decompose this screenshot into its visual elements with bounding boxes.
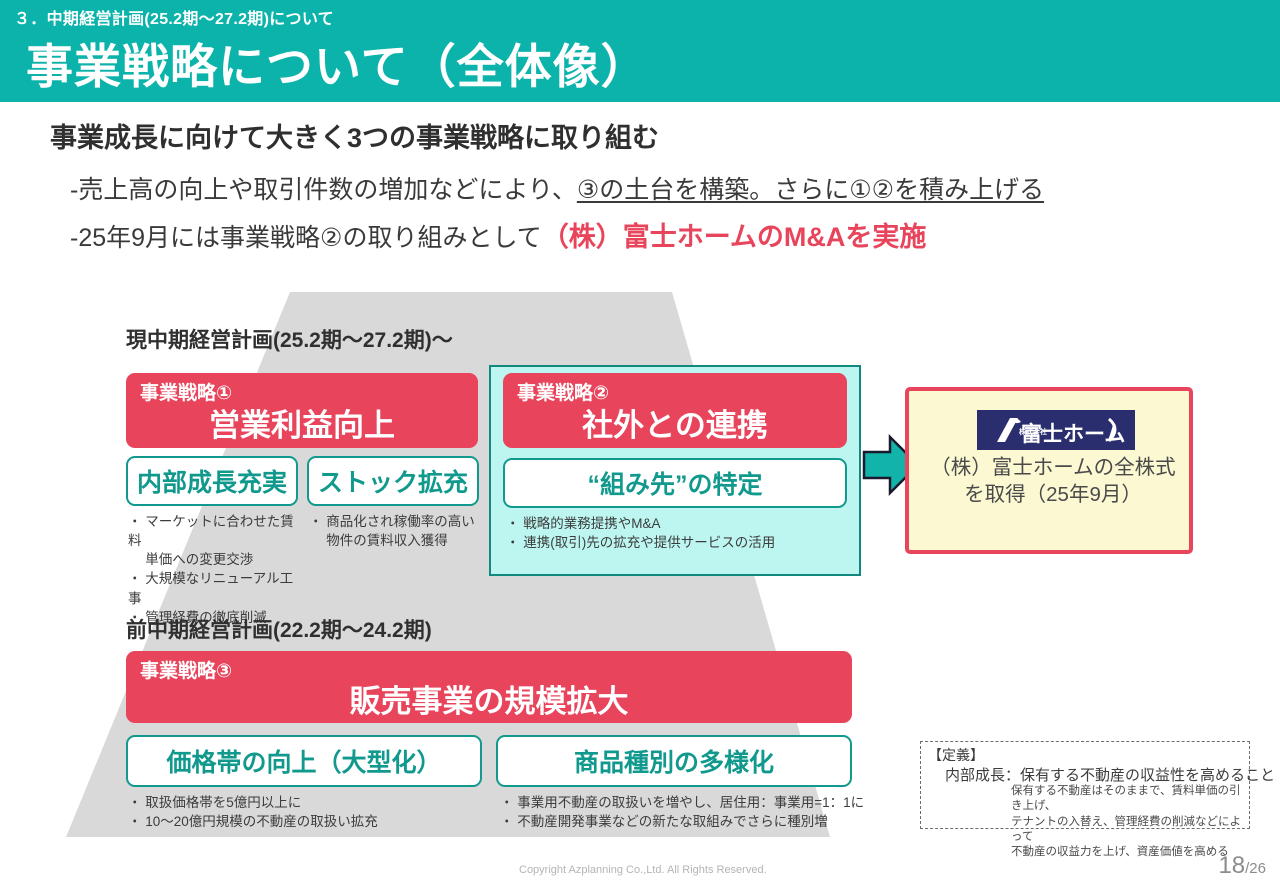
- slide-root: ３．中期経営計画(25.2期〜27.2期)について 事業戦略について（全体像） …: [0, 0, 1280, 886]
- fuji-home-logo-art: 株式会社 富士ホーム: [977, 410, 1135, 450]
- strategy-1-subbox-b: ストック拡充: [307, 456, 479, 506]
- strategy-2-subbox-label: “組み先”の特定: [587, 465, 762, 501]
- lead-line-1-underlined: ③の土台を構築。さらに①②を積み上げる: [577, 176, 1044, 204]
- strategy-1-title: 営業利益向上: [126, 400, 478, 445]
- strategy-1-bullets-a: ・ マーケットに合わせた賃料 単価への変更交渉 ・ 大規模なリニューアル工事 ・…: [128, 512, 303, 627]
- strategy-3-subbox-b-label: 商品種別の多様化: [574, 743, 774, 779]
- strategy-1-subbox-a: 内部成長充実: [126, 456, 298, 506]
- definition-main-text: 内部成長：保有する不動産の収益性を高めること: [945, 764, 1275, 785]
- strategy-1-subbox-a-label: 内部成長充実: [137, 463, 287, 499]
- strategy-1-card: 事業戦略① 営業利益向上: [126, 373, 478, 448]
- strategy-3-subbox-a-label: 価格帯の向上（大型化）: [166, 743, 441, 779]
- lead-line-2: -25年9月には事業戦略②の取り組みとして（株）富士ホームのM&Aを実施: [70, 215, 926, 254]
- strategy-2-card: 事業戦略② 社外との連携: [503, 373, 847, 448]
- lead-line-1: -売上高の向上や取引件数の増加などにより、③の土台を構築。さらに①②を積み上げる: [70, 170, 1044, 206]
- section-label-previous-plan: 前中期経営計画(22.2期〜24.2期): [126, 614, 432, 644]
- strategy-1-bullets-b: ・ 商品化され稼働率の高い 物件の賃料収入獲得: [309, 512, 484, 550]
- strategy-3-bullets-a: ・ 取扱価格帯を5億円以上に ・ 10〜20億円規模の不動産の取扱い拡充: [128, 793, 488, 831]
- header-kicker: ３．中期経営計画(25.2期〜27.2期)について: [14, 5, 334, 29]
- strategy-3-card: 事業戦略③ 販売事業の規模拡大: [126, 651, 852, 723]
- strategy-2-title: 社外との連携: [503, 400, 847, 445]
- strategy-3-subbox-b: 商品種別の多様化: [496, 735, 852, 787]
- strategy-2-subbox: “組み先”の特定: [503, 458, 847, 508]
- svg-text:富士ホーム: 富士ホーム: [1021, 422, 1125, 446]
- strategy-3-bullets-b: ・ 事業用不動産の取扱いを増やし、居住用：事業用=1：1に ・ 不動産開発事業な…: [500, 793, 870, 831]
- page-number: 18/26: [1218, 852, 1266, 880]
- lead-line-2-highlight: （株）富士ホームのM&Aを実施: [542, 222, 927, 252]
- definition-sub-text: 保有する不動産はそのままで、賃料単価の引き上げ、 テナントの入替え、管理経費の削…: [1011, 784, 1249, 860]
- strategy-1-subbox-b-label: ストック拡充: [318, 463, 468, 499]
- strategy-3-title: 販売事業の規模拡大: [126, 676, 852, 721]
- section-label-current-plan: 現中期経営計画(25.2期〜27.2期)〜: [126, 324, 453, 354]
- footer-copyright: Copyright Azplanning Co.,Ltd. All Rights…: [519, 864, 767, 876]
- lead-headline: 事業成長に向けて大きく3つの事業戦略に取り組む: [50, 116, 659, 155]
- page-number-current: 18: [1218, 852, 1245, 879]
- lead-line-1-prefix: -売上高の向上や取引件数の増加などにより、: [70, 176, 577, 204]
- fuji-home-logo: 株式会社 富士ホーム: [977, 410, 1135, 450]
- definition-heading: 【定義】: [928, 745, 984, 765]
- ma-result-box: 株式会社 富士ホーム （株）富士ホームの全株式 を取得（25年9月）: [905, 387, 1193, 554]
- definition-box: 【定義】 内部成長：保有する不動産の収益性を高めること 保有する不動産はそのまま…: [920, 741, 1250, 829]
- page-title: 事業戦略について（全体像）: [26, 28, 649, 97]
- ma-result-text: （株）富士ホームの全株式 を取得（25年9月）: [919, 455, 1187, 508]
- lead-line-2-prefix: -25年9月には事業戦略②の取り組みとして: [70, 224, 542, 252]
- strategy-2-bullets: ・ 戦略的業務提携やM&A ・ 連携(取引)先の拡充や提供サービスの活用: [506, 514, 846, 552]
- page-number-total: /26: [1245, 860, 1266, 877]
- strategy-3-subbox-a: 価格帯の向上（大型化）: [126, 735, 482, 787]
